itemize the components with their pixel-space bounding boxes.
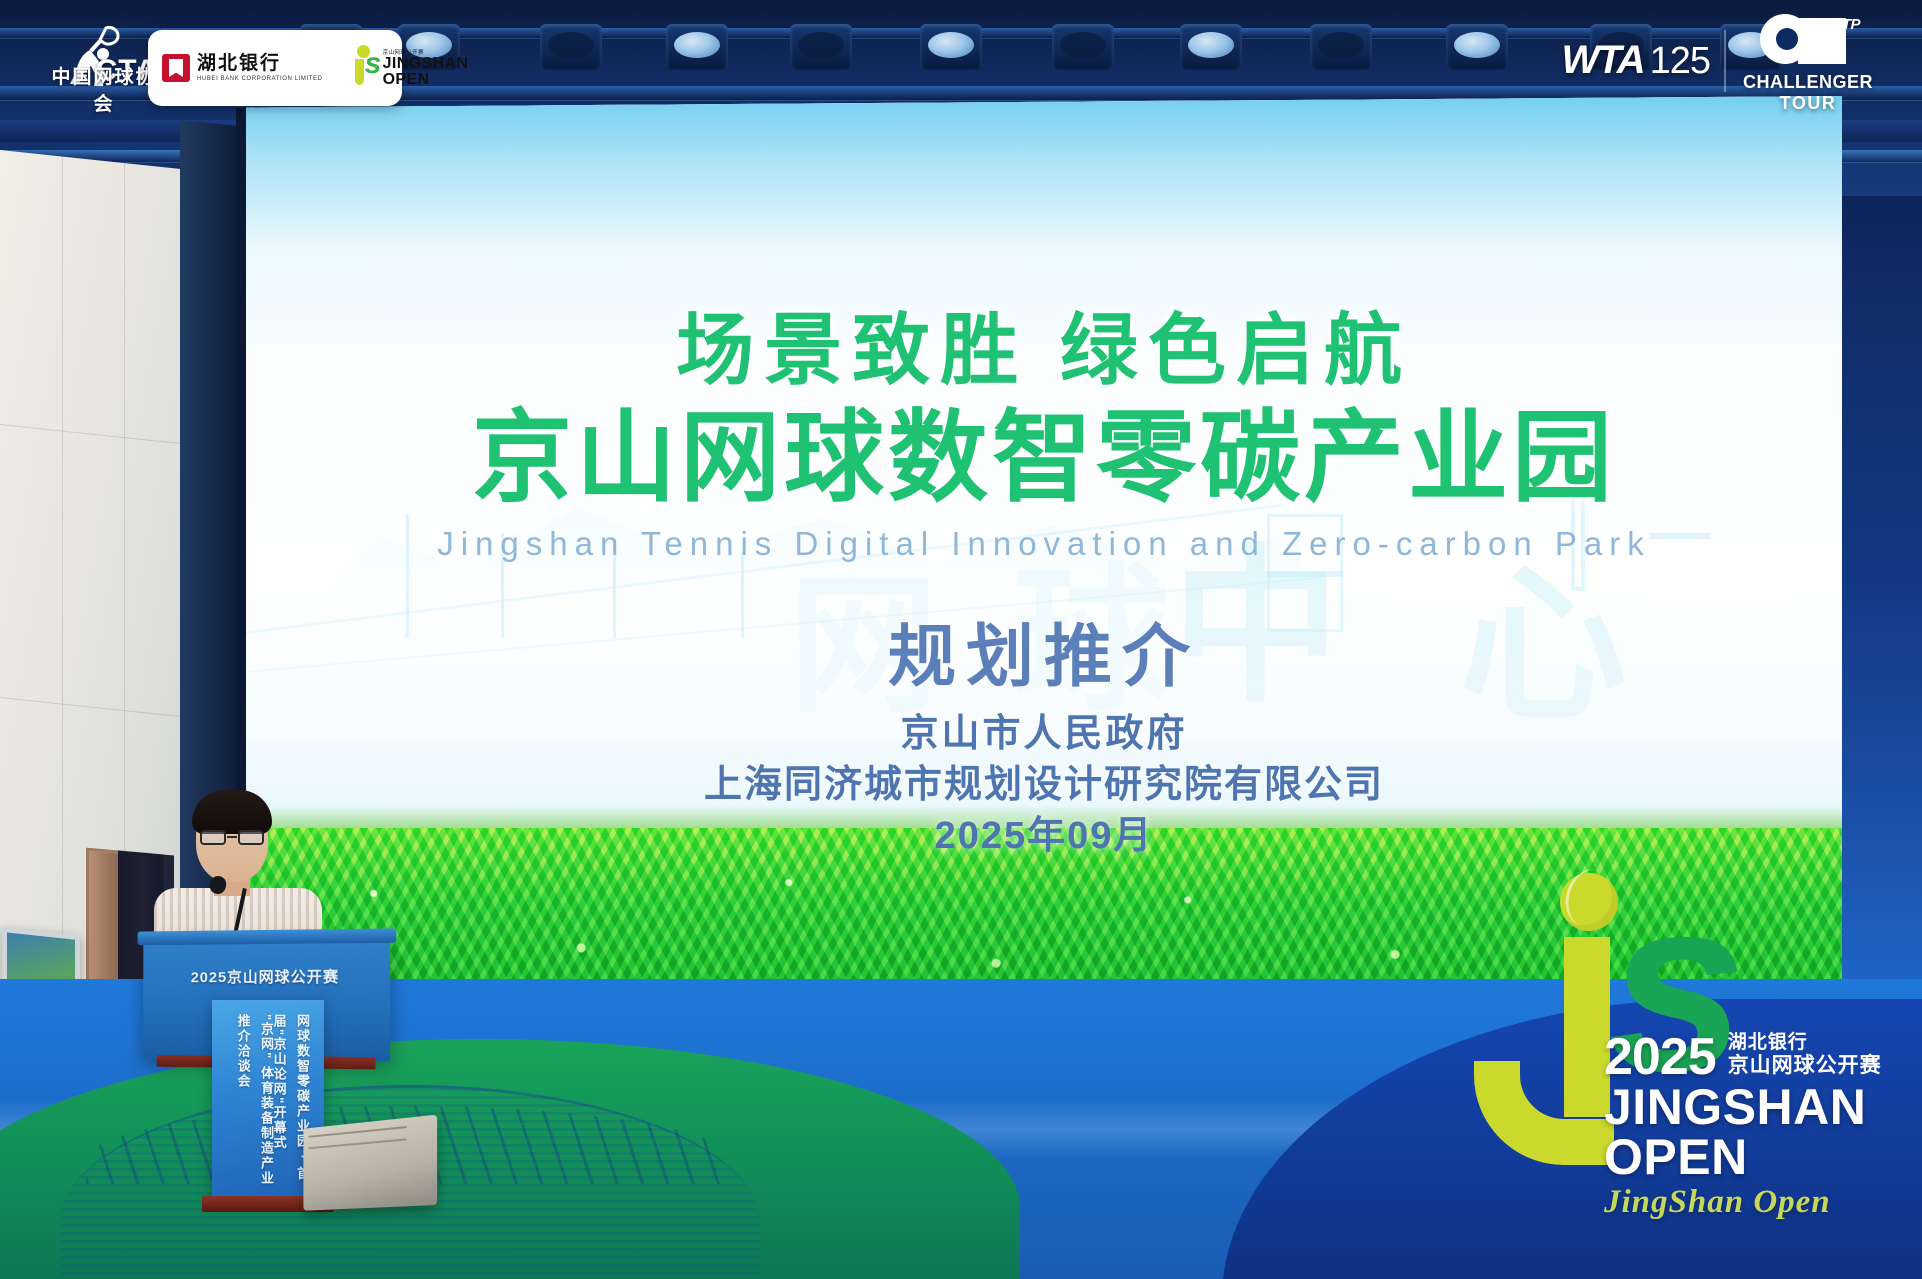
stage-monitor-speaker	[303, 1115, 437, 1211]
slide-subheading: 规划推介	[246, 601, 1842, 700]
atp-line-1: CHALLENGER	[1738, 72, 1878, 93]
event-title-en-2: OPEN	[1604, 1132, 1894, 1182]
event-title-en-1: JINGSHAN	[1604, 1082, 1894, 1132]
hubei-bank-names: 湖北银行 HUBEI BANK CORPORATION LIMITED	[197, 54, 323, 82]
js-monogram-icon: s	[343, 44, 383, 92]
hubei-bank-mark-icon	[162, 54, 190, 82]
stage-par-light-icon	[790, 24, 852, 70]
stage-photograph: 中 心 网 球 场景致胜 绿色启航 京山网球数智零碳产业园 Jingshan T…	[0, 0, 1922, 1279]
jingshan-open-en-2: OPEN	[383, 72, 469, 88]
slide-byline: 京山市人民政府 上海同济城市规划设计研究院有限公司 2025年09月	[246, 709, 1842, 863]
atp-line-2: TOUR	[1738, 93, 1878, 114]
atp-badge: ATP	[1833, 16, 1860, 33]
jingshan-open-names: 京山网球公开赛 JINGSHAN OPEN	[383, 48, 469, 89]
slide-headline-english: Jingshan Tennis Digital Innovation and Z…	[246, 525, 1842, 563]
wta-wordmark: WTA	[1561, 38, 1643, 83]
event-logo-lockup: s 2025 湖北银行 京山网球公开赛 JINGSHAN OPEN JingSh…	[1468, 921, 1898, 1261]
byline-line-1: 京山市人民政府	[246, 709, 1842, 760]
roll-up-banner-text-line-2: "京网" 体育装备制造产业推介洽谈会	[231, 1014, 278, 1190]
challenger-tour-mark-icon: ATP	[1760, 14, 1856, 70]
byline-line-3: 2025年09月	[246, 811, 1842, 862]
cta-chinese-name: 中国网球协会	[44, 62, 164, 116]
sponsor-logo-plate: 湖北银行 HUBEI BANK CORPORATION LIMITED s 京山…	[148, 30, 402, 106]
speaker-glasses-icon	[200, 830, 264, 845]
event-sponsor-cn: 湖北银行	[1728, 1032, 1882, 1054]
byline-line-2: 上海同济城市规划设计研究院有限公司	[246, 760, 1842, 811]
event-logo-text: 2025 湖北银行 京山网球公开赛 JINGSHAN OPEN JingShan…	[1604, 1032, 1894, 1221]
stage-par-light-icon	[1180, 24, 1242, 70]
stage-par-light-icon	[540, 24, 602, 70]
speaker-hair	[192, 790, 272, 834]
cta-logo: CTA 中国网球协会	[44, 18, 164, 118]
slide-headline-secondary: 京山网球数智零碳产业园	[246, 376, 1842, 521]
wta-tier: 125	[1650, 40, 1710, 83]
stage-par-light-icon	[1310, 24, 1372, 70]
jingshan-open-en-1: JINGSHAN	[383, 56, 469, 72]
atp-challenger-tour-logo: ATP CHALLENGER TOUR	[1738, 14, 1878, 118]
event-year: 2025	[1604, 1034, 1716, 1082]
event-script-wordmark: JingShan Open	[1604, 1184, 1894, 1221]
podium-top-lip	[138, 928, 397, 945]
podium-plaque-text: 2025京山网球公开赛	[143, 965, 390, 987]
stage-par-light-icon	[666, 24, 728, 70]
event-title-cn: 京山网球公开赛	[1728, 1054, 1882, 1079]
wta-logo: WTA 125	[1561, 38, 1710, 83]
stage-par-light-icon	[1052, 24, 1114, 70]
logo-divider	[1724, 30, 1726, 92]
hubei-bank-cn: 湖北银行	[197, 54, 323, 74]
hubei-bank-en: HUBEI BANK CORPORATION LIMITED	[197, 76, 323, 82]
speaker-grille	[309, 1126, 407, 1149]
stage-par-light-icon	[920, 24, 982, 70]
stage-par-light-icon	[1446, 24, 1508, 70]
